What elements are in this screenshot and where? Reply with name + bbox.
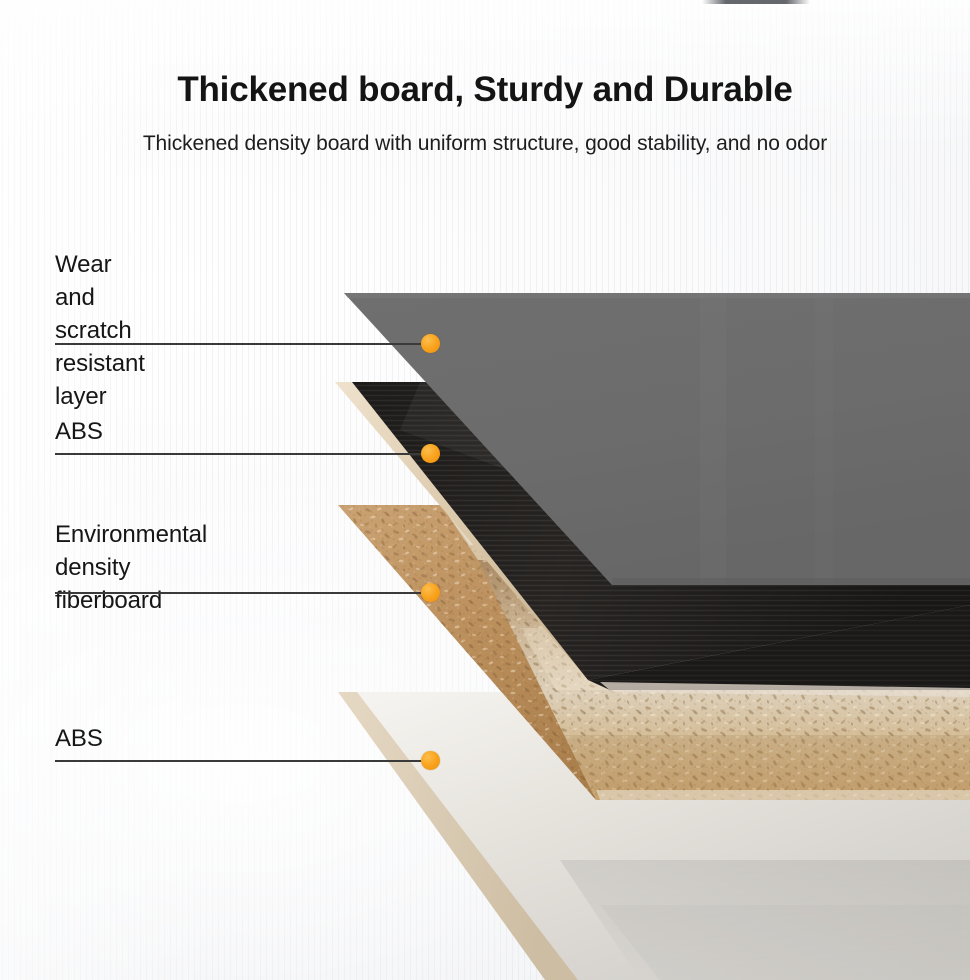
marker-dot-icon-wear-layer[interactable] — [421, 334, 440, 353]
leader-line-abs-top — [55, 453, 430, 455]
callout-label-abs-top: ABS — [55, 415, 103, 448]
leader-line-abs-bottom — [55, 760, 430, 762]
marker-dot-icon-abs-top[interactable] — [421, 444, 440, 463]
callout-label-wear-layer: Wear and scratch resistant layer — [55, 248, 145, 414]
leader-line-wear-layer — [55, 343, 430, 345]
marker-dot-icon-fiberboard[interactable] — [421, 583, 440, 602]
callout-label-abs-bottom: ABS — [55, 722, 103, 755]
infographic-canvas: Thickened board, Sturdy and Durable Thic… — [0, 0, 970, 980]
exploded-board-diagram — [0, 0, 970, 980]
leader-line-fiberboard — [55, 592, 430, 594]
marker-dot-icon-abs-bottom[interactable] — [421, 751, 440, 770]
callout-label-fiberboard: Environmental density fiberboard — [55, 518, 207, 617]
